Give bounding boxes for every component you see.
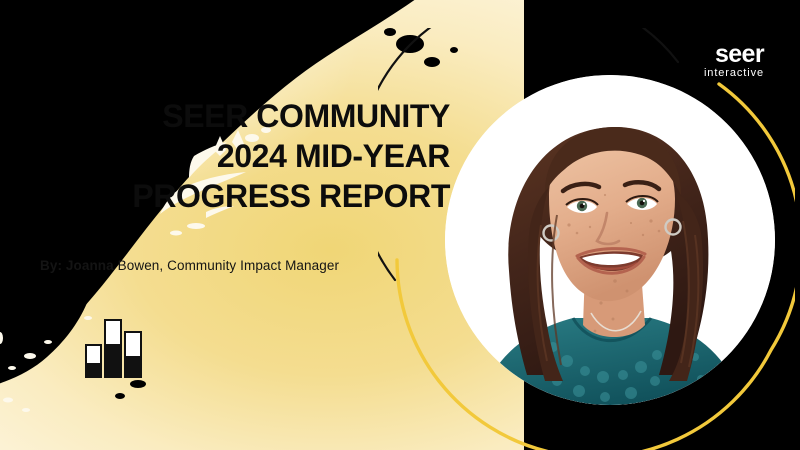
presentation-slide: SEER COMMUNITY 2024 MID-YEAR PROGRESS RE… [0,0,800,450]
byline: By: Joanna Bowen, Community Impact Manag… [40,258,339,273]
byline-role: Bowen, Community Impact Manager [114,258,339,273]
portrait-photo [445,75,775,405]
title-line-3: PROGRESS REPORT [38,176,458,216]
seer-interactive-logo: seer interactive [704,42,764,80]
bar-chart-icon [84,317,146,379]
title-line-1: SEER COMMUNITY [38,96,458,136]
byline-author: By: Joanna [40,258,114,273]
title-line-2: 2024 MID-YEAR [38,136,458,176]
logo-tagline: interactive [704,66,764,80]
page-title: SEER COMMUNITY 2024 MID-YEAR PROGRESS RE… [38,96,458,216]
logo-wordmark: seer [704,42,764,66]
avatar [445,75,775,405]
